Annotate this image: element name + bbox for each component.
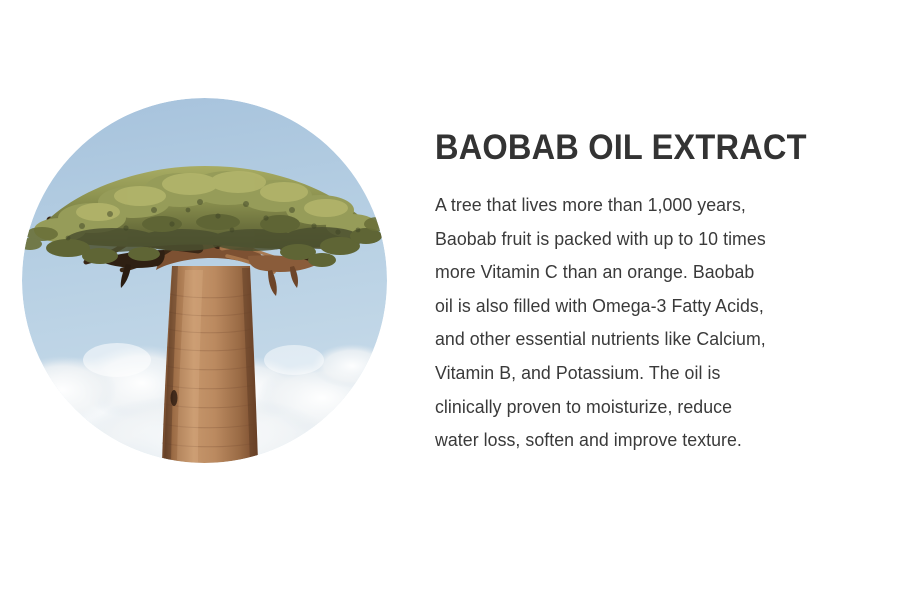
description-line: more Vitamin C than an orange. Baobab: [435, 255, 819, 289]
description-line: clinically proven to moisturize, reduce: [435, 390, 819, 424]
baobab-illustration: [22, 98, 387, 463]
description-line: A tree that lives more than 1,000 years,: [435, 188, 819, 222]
page-title: BAOBAB OIL EXTRACT: [435, 128, 807, 168]
trunk-knot: [171, 390, 178, 406]
description-line: Vitamin B, and Potassium. The oil is: [435, 356, 819, 390]
baobab-tree-photo: [22, 98, 387, 463]
description-line: oil is also filled with Omega-3 Fatty Ac…: [435, 289, 819, 323]
description-line: Baobab fruit is packed with up to 10 tim…: [435, 222, 819, 256]
page-root: BAOBAB OIL EXTRACT A tree that lives mor…: [0, 0, 900, 592]
content-column: BAOBAB OIL EXTRACT A tree that lives mor…: [435, 128, 835, 457]
description-paragraph: A tree that lives more than 1,000 years,…: [435, 188, 819, 457]
description-line: and other essential nutrients like Calci…: [435, 322, 819, 356]
description-line: water loss, soften and improve texture.: [435, 423, 819, 457]
